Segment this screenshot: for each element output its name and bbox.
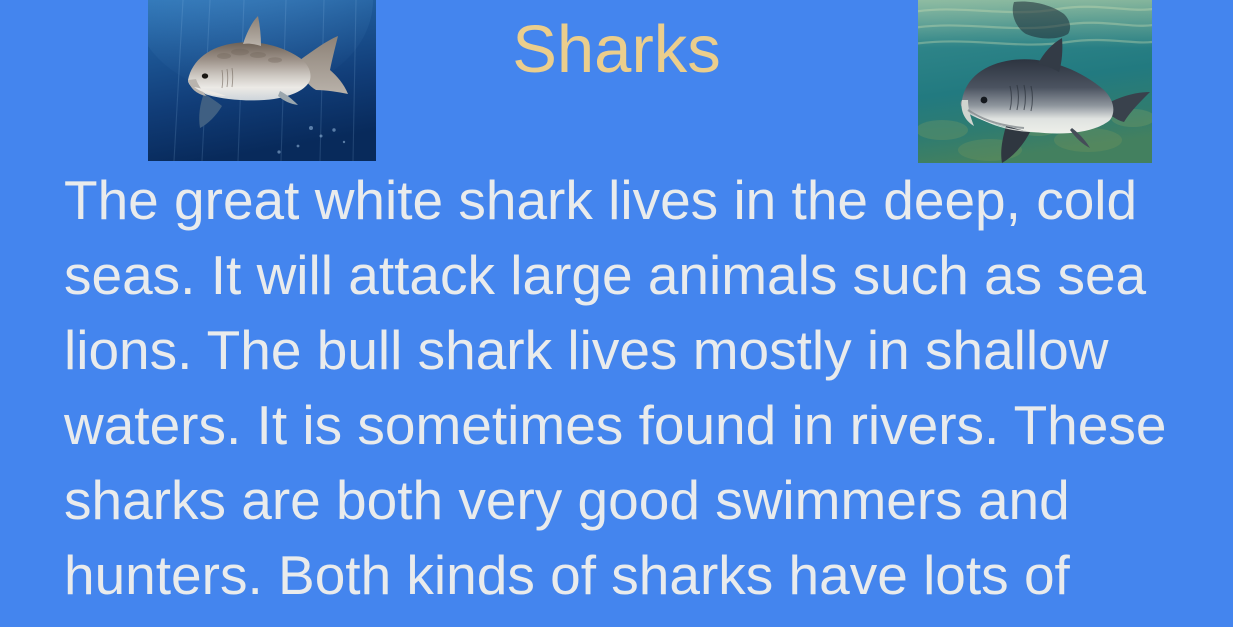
body-paragraph: The great white shark lives in the deep,… [64, 163, 1216, 627]
bull-shark-photo [918, 0, 1152, 163]
bull-shark-illustration [918, 0, 1152, 163]
slide-canvas: Sharks [0, 0, 1233, 627]
